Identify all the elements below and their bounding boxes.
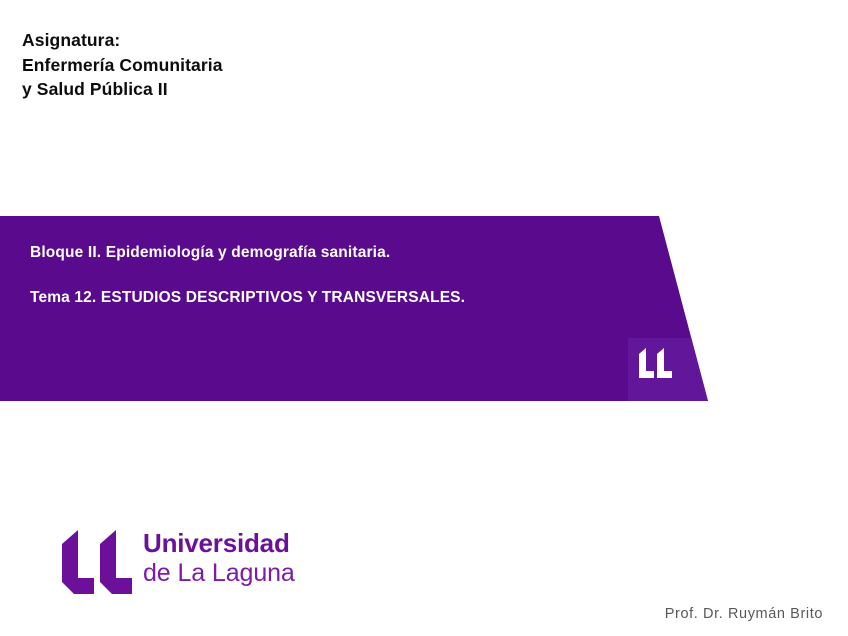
course-heading-line-3: y Salud Pública II: [22, 77, 542, 102]
banner-block-line: Bloque II. Epidemiología y demografía sa…: [30, 242, 630, 263]
ull-wordmark: Universidad de La Laguna: [143, 528, 313, 588]
title-banner: Bloque II. Epidemiología y demografía sa…: [0, 216, 712, 401]
banner-text-group: Bloque II. Epidemiología y demografía sa…: [30, 242, 630, 308]
footer-author: Prof. Dr. Ruymán Brito: [665, 606, 823, 622]
banner-topic-line: Tema 12. ESTUDIOS DESCRIPTIVOS Y TRANSVE…: [30, 287, 630, 308]
course-heading-line-1: Asignatura:: [22, 28, 542, 53]
course-heading: Asignatura: Enfermería Comunitaria y Sal…: [22, 28, 542, 102]
ull-wordmark-line-1: Universidad: [143, 528, 313, 558]
ull-wordmark-line-2: de La Laguna: [143, 558, 313, 588]
slide-canvas: Asignatura: Enfermería Comunitaria y Sal…: [0, 0, 848, 636]
ull-logo: Universidad de La Laguna: [62, 528, 307, 596]
ull-monogram-icon: [62, 530, 132, 594]
course-heading-line-2: Enfermería Comunitaria: [22, 53, 542, 78]
ull-monogram-icon: [639, 348, 673, 378]
